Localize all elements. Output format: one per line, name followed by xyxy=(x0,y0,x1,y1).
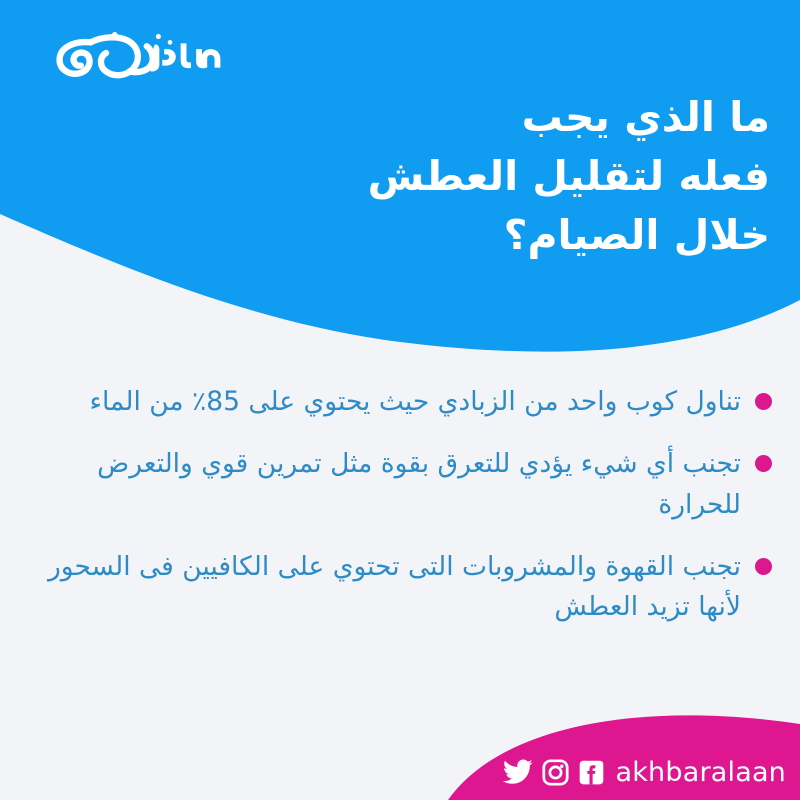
page-title: ما الذي يجب فعله لتقليل العطش خلال الصيا… xyxy=(28,88,770,265)
list-item: تجنب أي شيء يؤدي للتعرق بقوة مثل تمرين ق… xyxy=(40,444,772,525)
list-item-text: تناول كوب واحد من الزبادي حيث يحتوي على … xyxy=(40,382,741,422)
social-icon-group xyxy=(503,759,605,786)
list-item: تناول كوب واحد من الزبادي حيث يحتوي على … xyxy=(40,382,772,422)
tips-list: تناول كوب واحد من الزبادي حيث يحتوي على … xyxy=(40,382,772,649)
twitter-icon[interactable] xyxy=(503,759,533,785)
akhbar-alaan-logo-mark xyxy=(46,23,240,85)
headline-line-2: فعله لتقليل العطش xyxy=(28,147,770,206)
facebook-icon[interactable] xyxy=(578,759,605,786)
list-item: تجنب القهوة والمشروبات التى تحتوي على ال… xyxy=(40,547,772,628)
brand-logo[interactable] xyxy=(24,18,240,90)
instagram-icon[interactable] xyxy=(542,759,569,786)
social-footer: akhbaralaan xyxy=(0,744,800,800)
list-item-text: تجنب القهوة والمشروبات التى تحتوي على ال… xyxy=(40,547,741,628)
headline-line-3: خلال الصيام؟ xyxy=(28,206,770,265)
social-handle[interactable]: akhbaralaan xyxy=(615,759,786,786)
bullet-dot-icon xyxy=(755,393,772,410)
bullet-dot-icon xyxy=(755,558,772,575)
list-item-text: تجنب أي شيء يؤدي للتعرق بقوة مثل تمرين ق… xyxy=(40,444,741,525)
bullet-dot-icon xyxy=(755,455,772,472)
headline-line-1: ما الذي يجب xyxy=(28,88,770,147)
infographic-poster: ما الذي يجب فعله لتقليل العطش خلال الصيا… xyxy=(0,0,800,800)
